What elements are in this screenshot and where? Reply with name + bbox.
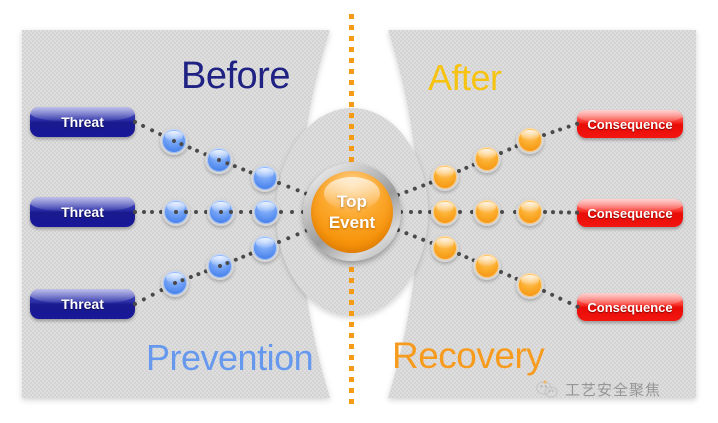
top-event-node[interactable]: Top Event	[303, 163, 401, 261]
watermark-text: 工艺安全聚焦	[565, 379, 661, 400]
consequence-barrier-1-2[interactable]	[473, 145, 501, 173]
threat-barrier-3-3[interactable]	[251, 234, 279, 262]
connector-dots	[502, 210, 515, 214]
consequence-barrier-3-2[interactable]	[473, 252, 501, 280]
threat-button-3[interactable]: Threat	[30, 289, 135, 319]
connector-dots	[221, 210, 251, 214]
threat-label-2: Threat	[61, 204, 104, 220]
connector-dots	[281, 210, 303, 214]
watermark: 工艺安全聚焦	[536, 379, 661, 400]
caption-after: After	[428, 57, 502, 99]
consequence-barrier-2-2[interactable]	[473, 198, 501, 226]
consequence-barrier-1-1[interactable]	[431, 163, 459, 191]
threat-label-1: Threat	[61, 114, 104, 130]
consequence-label-1: Consequence	[587, 117, 672, 132]
consequence-label-2: Consequence	[587, 206, 672, 221]
bowtie-diagram-canvas: Before After Prevention Recovery ThreatT…	[0, 0, 718, 423]
consequence-barrier-3-3[interactable]	[516, 271, 544, 299]
consequence-label-3: Consequence	[587, 300, 672, 315]
consequence-barrier-1-3[interactable]	[516, 126, 544, 154]
consequence-barrier-2-1[interactable]	[431, 198, 459, 226]
caption-recovery: Recovery	[392, 335, 544, 377]
threat-button-1[interactable]: Threat	[30, 107, 135, 137]
wechat-logo-icon	[536, 380, 558, 399]
consequence-button-3[interactable]: Consequence	[577, 293, 683, 321]
consequence-barrier-3-1[interactable]	[431, 234, 459, 262]
connector-dots	[135, 210, 161, 214]
top-event-label-line2: Event	[329, 212, 375, 233]
connector-dots	[460, 210, 472, 214]
threat-barrier-1-3[interactable]	[251, 164, 279, 192]
consequence-barrier-2-3[interactable]	[516, 198, 544, 226]
threat-button-2[interactable]: Threat	[30, 197, 135, 227]
connector-dots	[176, 210, 206, 214]
threat-barrier-2-3[interactable]	[252, 198, 280, 226]
consequence-button-2[interactable]: Consequence	[577, 199, 683, 227]
top-event-inner: Top Event	[311, 171, 393, 253]
connector-dots	[401, 210, 430, 214]
threat-label-3: Threat	[61, 296, 104, 312]
caption-before: Before	[181, 55, 290, 98]
consequence-button-1[interactable]: Consequence	[577, 110, 683, 138]
top-event-label-line1: Top	[337, 191, 367, 212]
caption-prevention: Prevention	[146, 337, 313, 379]
